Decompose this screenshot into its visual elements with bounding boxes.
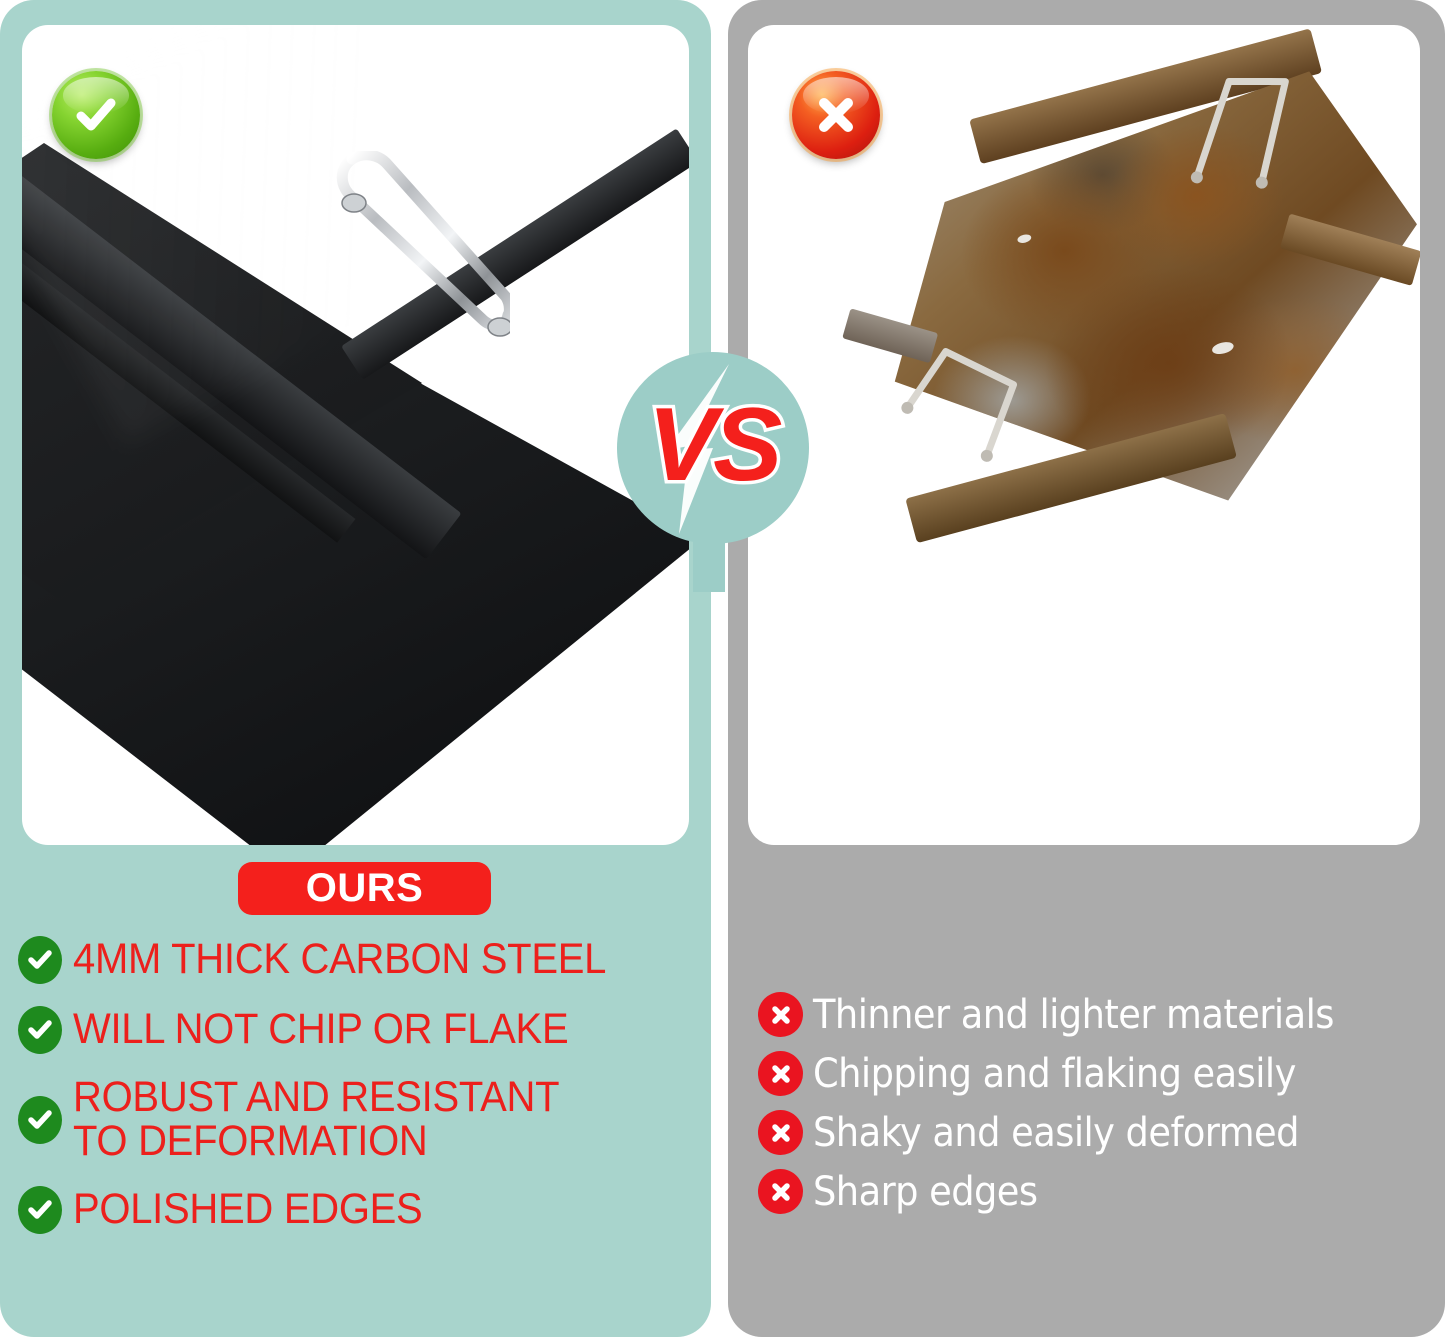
red-x-circle-icon	[758, 1169, 803, 1214]
versus-text-icon: VS	[617, 352, 809, 544]
list-item-label: Sharp edges	[813, 1171, 1038, 1213]
versus-badge: VS	[617, 352, 809, 592]
ours-label-text: OURS	[306, 866, 424, 911]
griddle-handle-icon	[334, 151, 510, 339]
list-item-label: 4MM THICK CARBON STEEL	[73, 938, 606, 982]
others-product-photo	[748, 25, 1420, 845]
list-item-label: Chipping and flaking easily	[813, 1053, 1296, 1095]
list-item-label: Shaky and easily deformed	[813, 1112, 1299, 1154]
others-feature-list: Thinner and lighter materials Chipping a…	[0, 992, 1445, 1228]
ours-product-photo	[22, 25, 689, 845]
comparison-infographic: OURS	[0, 0, 1445, 1337]
ours-label-badge: OURS	[238, 862, 491, 915]
list-item-label: Thinner and lighter materials	[813, 994, 1334, 1036]
green-check-circle-icon	[18, 936, 62, 984]
red-x-circle-icon	[792, 71, 880, 159]
red-x-circle-icon	[758, 992, 803, 1037]
list-item: Thinner and lighter materials	[0, 992, 1445, 1037]
list-item: Chipping and flaking easily	[0, 1051, 1445, 1096]
wire-handle-icon	[1172, 60, 1335, 205]
list-item: Sharp edges	[0, 1169, 1445, 1214]
red-x-circle-icon	[758, 1110, 803, 1155]
list-item: Shaky and easily deformed	[0, 1110, 1445, 1155]
list-item: 4MM THICK CARBON STEEL	[0, 936, 1445, 984]
red-x-circle-icon	[758, 1051, 803, 1096]
versus-label: VS	[648, 387, 782, 503]
wire-handle-icon	[892, 336, 1055, 481]
green-check-circle-icon	[52, 71, 140, 159]
